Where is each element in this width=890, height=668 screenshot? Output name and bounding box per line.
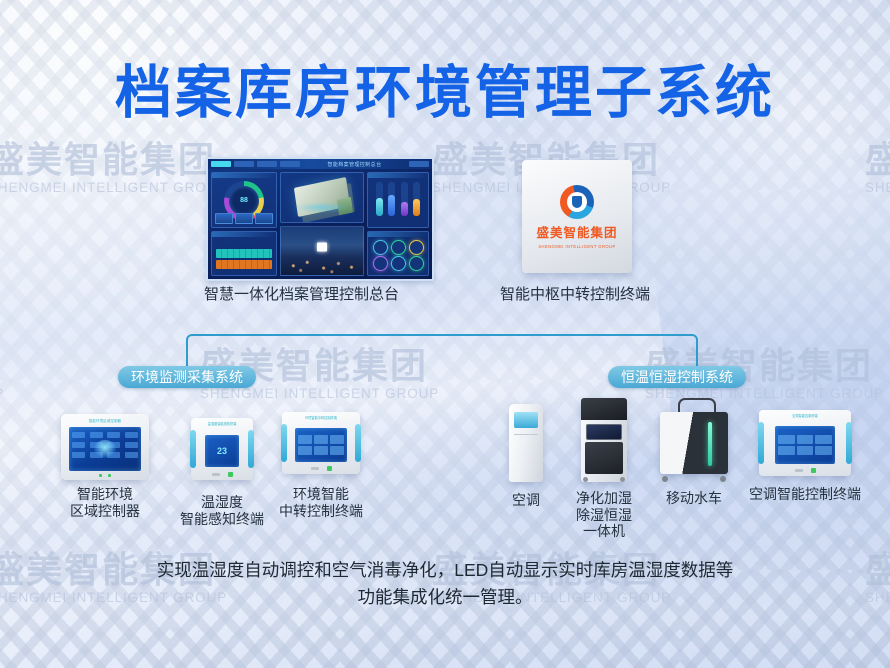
gauge-chips [215, 213, 273, 224]
console-device-icons-panel [367, 231, 429, 276]
console-tab-3 [280, 161, 300, 167]
device-footer [191, 472, 253, 477]
purifier-top [581, 398, 627, 420]
cart-wheels [662, 476, 726, 482]
console-screenshot: 智能档案管理控制总台 88 [206, 157, 434, 281]
watermark-tile: 盛美智能集团 SHENGMEI INTELLIGENT GROUP [865, 552, 890, 605]
watermark-en: SHENGMEI INTELLIGENT GROUP [0, 181, 227, 195]
console-body: 88 [208, 169, 432, 279]
purifier-display [586, 424, 622, 440]
console-screen-title: 智能档案管理控制总台 [303, 161, 406, 168]
purifier-icon [581, 398, 627, 482]
panel-header [368, 232, 428, 237]
watermark-cn: 盛美智能集团 [0, 348, 4, 384]
device-brand-text: 空调智能控制终端 [759, 413, 851, 418]
group-label-monitoring: 环境监测采集系统 [118, 366, 256, 388]
map-pin-icon [317, 242, 327, 251]
footer-description: 实现温湿度自动调控和空气消毒净化，LED自动显示实时库房温湿度数据等 功能集成化… [95, 557, 795, 611]
panel-header [212, 173, 276, 178]
company-logo-icon [560, 185, 594, 219]
hub-logo-en: SHENGMEI INTELLIGENT GROUP [538, 244, 615, 249]
device-temp-humidity-sensor: 温湿度智能感知终端 23 温湿度 智能感知终端 [168, 414, 276, 527]
device-screen [775, 426, 835, 464]
device-area-controller: 智能环境区域控制器 智能环境 区域控制器 [45, 414, 165, 519]
hub-caption: 智能中枢中转控制终端 [500, 283, 650, 304]
device-brand-text: 智能环境区域控制器 [61, 418, 149, 423]
power-icon [409, 256, 424, 271]
watermark-en: SHENGMEI INTELLIGENT GROUP [865, 591, 890, 605]
console-column-center [280, 172, 364, 276]
device-side-strip [846, 422, 852, 464]
device-label: 净化加湿 除湿恒湿 一体机 [562, 490, 646, 540]
hub-terminal-device: 盛美智能集团 SHENGMEI INTELLIGENT GROUP [522, 160, 632, 273]
relay-device-icon: 环境智能中转控制终端 [282, 412, 360, 474]
fan-icon [391, 256, 406, 271]
slide-canvas: 盛美智能集团 SHENGMEI INTELLIGENT GROUP 盛美智能集团… [0, 0, 890, 668]
device-footer [759, 468, 851, 473]
page-title: 档案库房环境管理子系统 [0, 47, 890, 129]
console-tab-0 [211, 161, 231, 167]
footer-line-2: 功能集成化统一管理。 [95, 584, 795, 611]
hub-logo-cn: 盛美智能集团 [536, 222, 617, 241]
device-footer [282, 466, 360, 471]
footer-line-1: 实现温湿度自动调控和空气消毒净化，LED自动显示实时库房温湿度数据等 [95, 557, 795, 584]
device-screen [69, 427, 141, 471]
device-air-conditioner: 空调 [494, 404, 558, 509]
bar-item [413, 182, 420, 216]
device-side-strip [248, 430, 254, 468]
panel-header [212, 232, 276, 237]
console-user-chip [409, 161, 429, 167]
watermark-en: SHENGMEI INTELLIGENT GROUP [865, 181, 890, 195]
purifier-body [585, 442, 623, 474]
device-side-strip [190, 430, 196, 468]
console-tab-2 [257, 161, 277, 167]
screen-button-grid [775, 432, 835, 458]
screen-button-grid [295, 432, 347, 458]
console-topbar: 智能档案管理控制总台 [208, 159, 432, 169]
watermark-cn: 盛美智能集团 [865, 552, 890, 588]
purifier-icon [373, 256, 388, 271]
device-side-strip [758, 422, 764, 464]
device-purifier: 净化加湿 除湿恒湿 一体机 [562, 398, 646, 540]
watermark-en: SHENGMEI INTELLIGENT GROUP [200, 387, 439, 401]
temperature-icon [373, 240, 388, 255]
watermark-tile: 盛美智能集团 SHENGMEI INTELLIGENT GROUP [0, 142, 227, 195]
gauge-chip [215, 213, 233, 224]
bar-chart [373, 182, 423, 216]
device-label: 环境智能 中转控制终端 [262, 486, 380, 519]
device-icon-grid [371, 240, 425, 272]
humidity-icon [391, 240, 406, 255]
device-label: 温湿度 智能感知终端 [168, 494, 276, 527]
device-side-strip [355, 424, 361, 462]
watermark-cn: 盛美智能集团 [0, 142, 227, 178]
tablet-device-icon: 智能环境区域控制器 [61, 414, 149, 480]
ac-vent [514, 412, 538, 428]
ac-controller-icon: 空调智能控制终端 [759, 410, 851, 476]
ac-seam [514, 434, 538, 435]
chart-band-humidity [216, 260, 272, 269]
gauge-chip [255, 213, 273, 224]
group-label-climate: 恒温恒湿控制系统 [608, 366, 746, 388]
device-screen [295, 428, 347, 462]
device-label: 空调 [494, 492, 558, 509]
purifier-wheels [583, 477, 625, 482]
console-bar-chart-panel [367, 172, 429, 228]
device-ac-controller: 空调智能控制终端 空调智能控制终端 [740, 410, 870, 503]
device-brand-text: 环境智能中转控制终端 [282, 415, 360, 420]
gauge-chip [235, 213, 253, 224]
screen-core-graphic [94, 440, 116, 458]
device-side-strip [281, 424, 287, 462]
watermark-tile: 盛美智能集团 SHENGMEI INTELLIGENT GROUP [865, 142, 890, 195]
watermark-cn: 盛美智能集团 [865, 142, 890, 178]
water-cart-icon [658, 398, 730, 482]
console-camera-feed [280, 226, 364, 277]
chart-band-temperature [216, 249, 272, 258]
console-column-left: 88 [211, 172, 277, 276]
device-label: 移动水车 [648, 490, 740, 507]
console-tab-1 [234, 161, 254, 167]
device-label: 智能环境 区域控制器 [45, 486, 165, 519]
watermark-en: SHENGMEI INTELLIGENT GROUP [0, 387, 4, 401]
model-glow-disc [294, 202, 350, 213]
bar-item [376, 182, 383, 216]
console-3d-model-panel [280, 172, 364, 223]
bar-item [388, 182, 395, 216]
light-icon [409, 240, 424, 255]
console-column-right [367, 172, 429, 276]
console-gauge-panel: 88 [211, 172, 277, 228]
panel-header [368, 173, 428, 178]
console-area-chart-panel [211, 231, 277, 276]
cart-body [660, 412, 728, 474]
console-caption: 智慧一体化档案管理控制总台 [204, 283, 399, 304]
sensor-device-icon: 温湿度智能感知终端 23 [191, 418, 253, 480]
device-water-cart: 移动水车 [648, 398, 740, 507]
device-label: 空调智能控制终端 [740, 486, 870, 503]
device-leds [61, 474, 149, 477]
device-screen: 23 [205, 435, 239, 467]
watermark-tile: 盛美智能集团 SHENGMEI INTELLIGENT GROUP [0, 348, 4, 401]
uv-lamp-icon [708, 422, 712, 466]
bar-item [401, 182, 408, 216]
air-conditioner-icon [509, 404, 543, 482]
device-brand-text: 温湿度智能感知终端 [191, 421, 253, 426]
device-relay-terminal: 环境智能中转控制终端 环境智能 中转控制终端 [262, 412, 380, 519]
area-chart [216, 249, 272, 271]
